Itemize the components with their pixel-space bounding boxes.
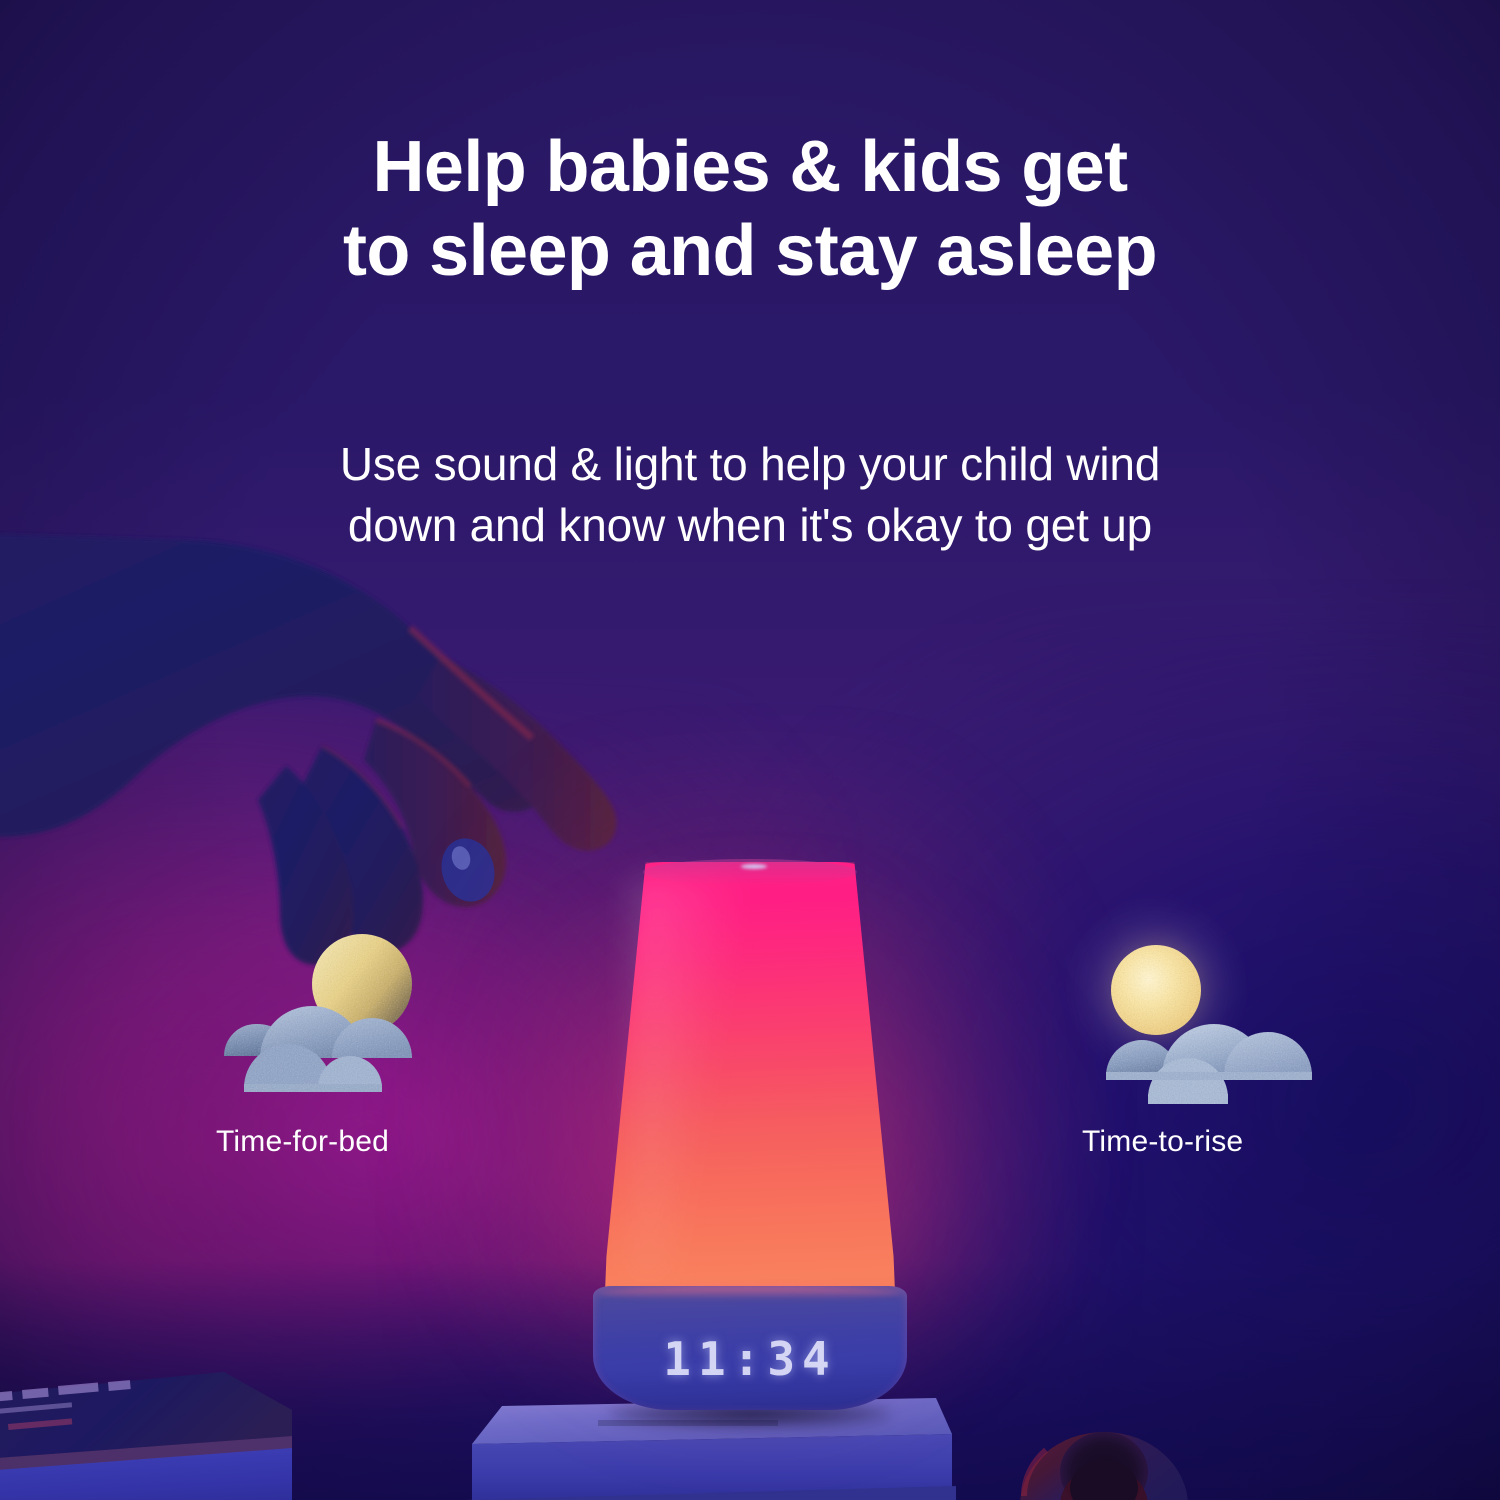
lamp-top-cap[interactable] [643,859,857,885]
hand-reaching [0,570,660,970]
moon-behind-cloud-icon [214,926,444,1111]
clock-display: 11:34 [575,1332,925,1386]
lamp-shade[interactable] [605,862,895,1310]
night-light-device[interactable]: 11:34 [575,862,925,1422]
lamp-base-glow [599,1286,901,1300]
subheadline-line-2: down and know when it's okay to get up [0,495,1500,556]
product-feature-banner: Help babies & kids get to sleep and stay… [0,0,1500,1500]
headline-line-2: to sleep and stay asleep [0,210,1500,294]
headline-line-1: Help babies & kids get [373,127,1128,207]
page-subtitle: Use sound & light to help your child win… [0,434,1500,555]
feature-label-time-for-bed: Time-for-bed [216,1125,444,1159]
feature-time-to-rise: Time-to-rise [1078,916,1318,1159]
toy-ball-right [1008,1356,1308,1500]
sun-behind-cloud-icon [1078,916,1318,1111]
sun-shape [1111,945,1201,1035]
feature-label-time-to-rise: Time-to-rise [1082,1125,1318,1159]
feature-time-for-bed: Time-for-bed [214,926,444,1159]
lamp-top-highlight [741,864,767,869]
page-title: Help babies & kids get to sleep and stay… [0,126,1500,293]
subheadline-line-1: Use sound & light to help your child win… [340,438,1160,490]
cloud-front-right [318,1056,382,1088]
